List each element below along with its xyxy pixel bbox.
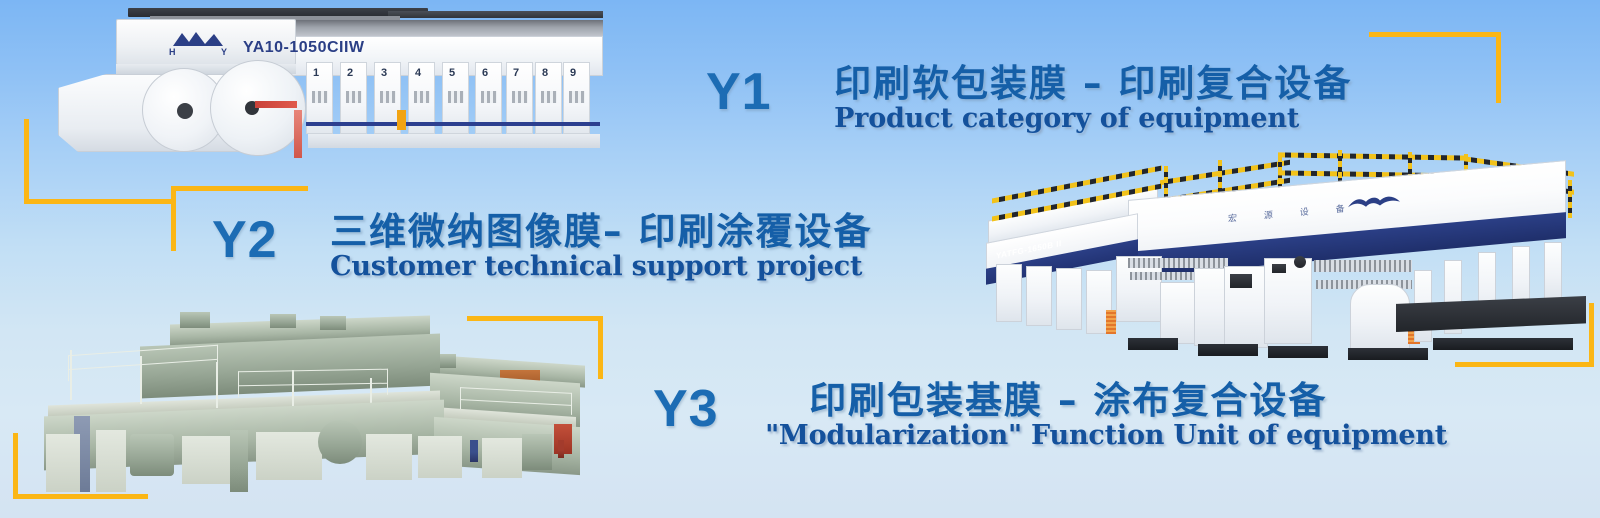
entry-y2-code: Y2 [212,212,278,268]
coater-base-right [1348,348,1428,360]
paper-machine-railing-post [140,356,142,404]
press-unit-grille [312,91,328,103]
entry-y1-title-cn: 印刷软包装膜 – 印刷复合设备 [834,64,1352,104]
coater-roller-bank [1128,258,1228,268]
bracket-top-right-horizontal [1369,32,1501,37]
coater-base-mid [1198,344,1258,356]
entry-y1: Y1 印刷软包装膜 – 印刷复合设备 Product category of e… [706,64,1352,134]
bracket-bottom-right-vertical [1589,303,1594,367]
entry-y1-text: 印刷软包装膜 – 印刷复合设备 Product category of equi… [834,64,1352,134]
paper-machine-railing-post [216,362,218,408]
entry-y2: Y2 三维微纳图像膜– 印刷涂覆设备 Customer technical su… [212,212,872,282]
bracket-mid-vertical [598,316,603,379]
press-unit-grille [346,91,362,103]
paper-machine-duct [180,312,210,328]
paper-machine-worker [470,440,478,462]
paper-machine-duct [270,314,296,328]
roll-hub [177,103,193,119]
entry-y2-subtitle-en: Customer technical support project [330,252,872,282]
press-unit-grille [481,91,497,103]
machine-photo-paper-machine [30,312,575,497]
press-blue-stripe [306,122,600,126]
bracket-top-left-horizontal [24,199,171,204]
paper-machine-roll [130,434,174,476]
press-red-post [294,110,302,158]
coater-hose [1106,310,1116,334]
entry-y1-subtitle-en: Product category of equipment [834,104,1352,134]
press-unit-grille [512,91,528,103]
entry-y3-title-cn: 印刷包装基膜 – 涂布复合设备 [765,381,1447,421]
press-unit-grille [414,91,430,103]
coater-station [1056,268,1082,330]
svg-text:Y: Y [221,47,227,56]
press-unit-number: 2 [347,67,353,79]
svg-text:H: H [169,47,176,56]
press-unit-grille [380,91,396,103]
press-unit-grille [569,91,585,103]
entry-y1-code: Y1 [706,64,772,120]
coater-station [996,264,1022,322]
paper-machine-railing-post [70,350,72,400]
roll-clamp-bar [255,101,297,108]
product-category-banner: H Y YA10-1050CIIW 1 2 3 4 [0,0,1600,518]
entry-y3-code: Y3 [653,381,719,437]
machine-photo-coating-line: YATFG-1650B II 宏 源 设 备 [978,160,1588,375]
coater-base-left [1128,338,1178,350]
press-unit-number: 9 [570,67,576,79]
coater-panel-screen [1230,274,1252,288]
paper-machine-worker [558,440,564,458]
press-base-frame [308,134,600,148]
coater-frame-right [1544,242,1562,302]
paper-machine-reel [522,434,552,470]
paper-machine-frame [230,430,248,492]
bracket-y2-horizontal [171,186,308,191]
entry-y2-text: 三维微纳图像膜– 印刷涂覆设备 Customer technical suppo… [330,212,872,282]
machine-photo-printing-press: H Y YA10-1050CIIW 1 2 3 4 [58,6,598,171]
press-unit-number: 3 [381,67,387,79]
coater-knob [1294,256,1306,268]
press-unit-number: 6 [482,67,488,79]
hy-mountain-logo-icon: H Y [165,28,237,56]
safety-railing [1278,152,1468,160]
press-unit-number: 7 [513,67,519,79]
coater-station [1026,266,1052,326]
coater-base-far-right [1433,338,1573,350]
press-unit-grille [448,91,464,103]
press-unit-number: 1 [313,67,319,79]
paper-machine-railing [238,369,388,398]
coater-base-mid2 [1268,346,1328,358]
press-unit-grille [541,91,557,103]
entry-y3: Y3 印刷包装基膜 – 涂布复合设备 "Modularization" Func… [653,381,1447,451]
coater-panel-screen [1272,264,1286,273]
press-roof-duct-2 [388,11,603,18]
paper-machine-reel [318,420,362,464]
paper-machine-duct [320,316,346,330]
bracket-y2-vertical [171,186,176,251]
press-unwind-roll-2 [210,60,306,156]
paper-machine-cabinet [256,432,322,480]
entry-y2-title-cn: 三维微纳图像膜– 印刷涂覆设备 [330,212,872,252]
paper-machine-cabinet [96,430,126,492]
bracket-bottom-left-vertical [13,433,18,499]
paper-machine-cabinet [46,434,80,492]
paper-machine-cabinet [482,438,522,478]
press-yellow-marker [397,110,406,130]
paper-machine-cabinet [366,434,412,480]
press-unit-number: 5 [449,67,455,79]
entry-y3-subtitle-en: "Modularization" Function Unit of equipm… [765,421,1447,451]
press-model-label: YA10-1050CIIW [243,39,365,57]
press-unit-number: 8 [542,67,548,79]
coater-roller-bank [1314,260,1412,272]
entry-y3-text: 印刷包装基膜 – 涂布复合设备 "Modularization" Functio… [765,381,1447,451]
press-unit-number: 4 [415,67,421,79]
paper-machine-cabinet [418,436,462,478]
bracket-top-left-vertical [24,119,29,204]
safety-railing-post [1568,180,1572,218]
bracket-top-right-vertical [1496,32,1501,103]
